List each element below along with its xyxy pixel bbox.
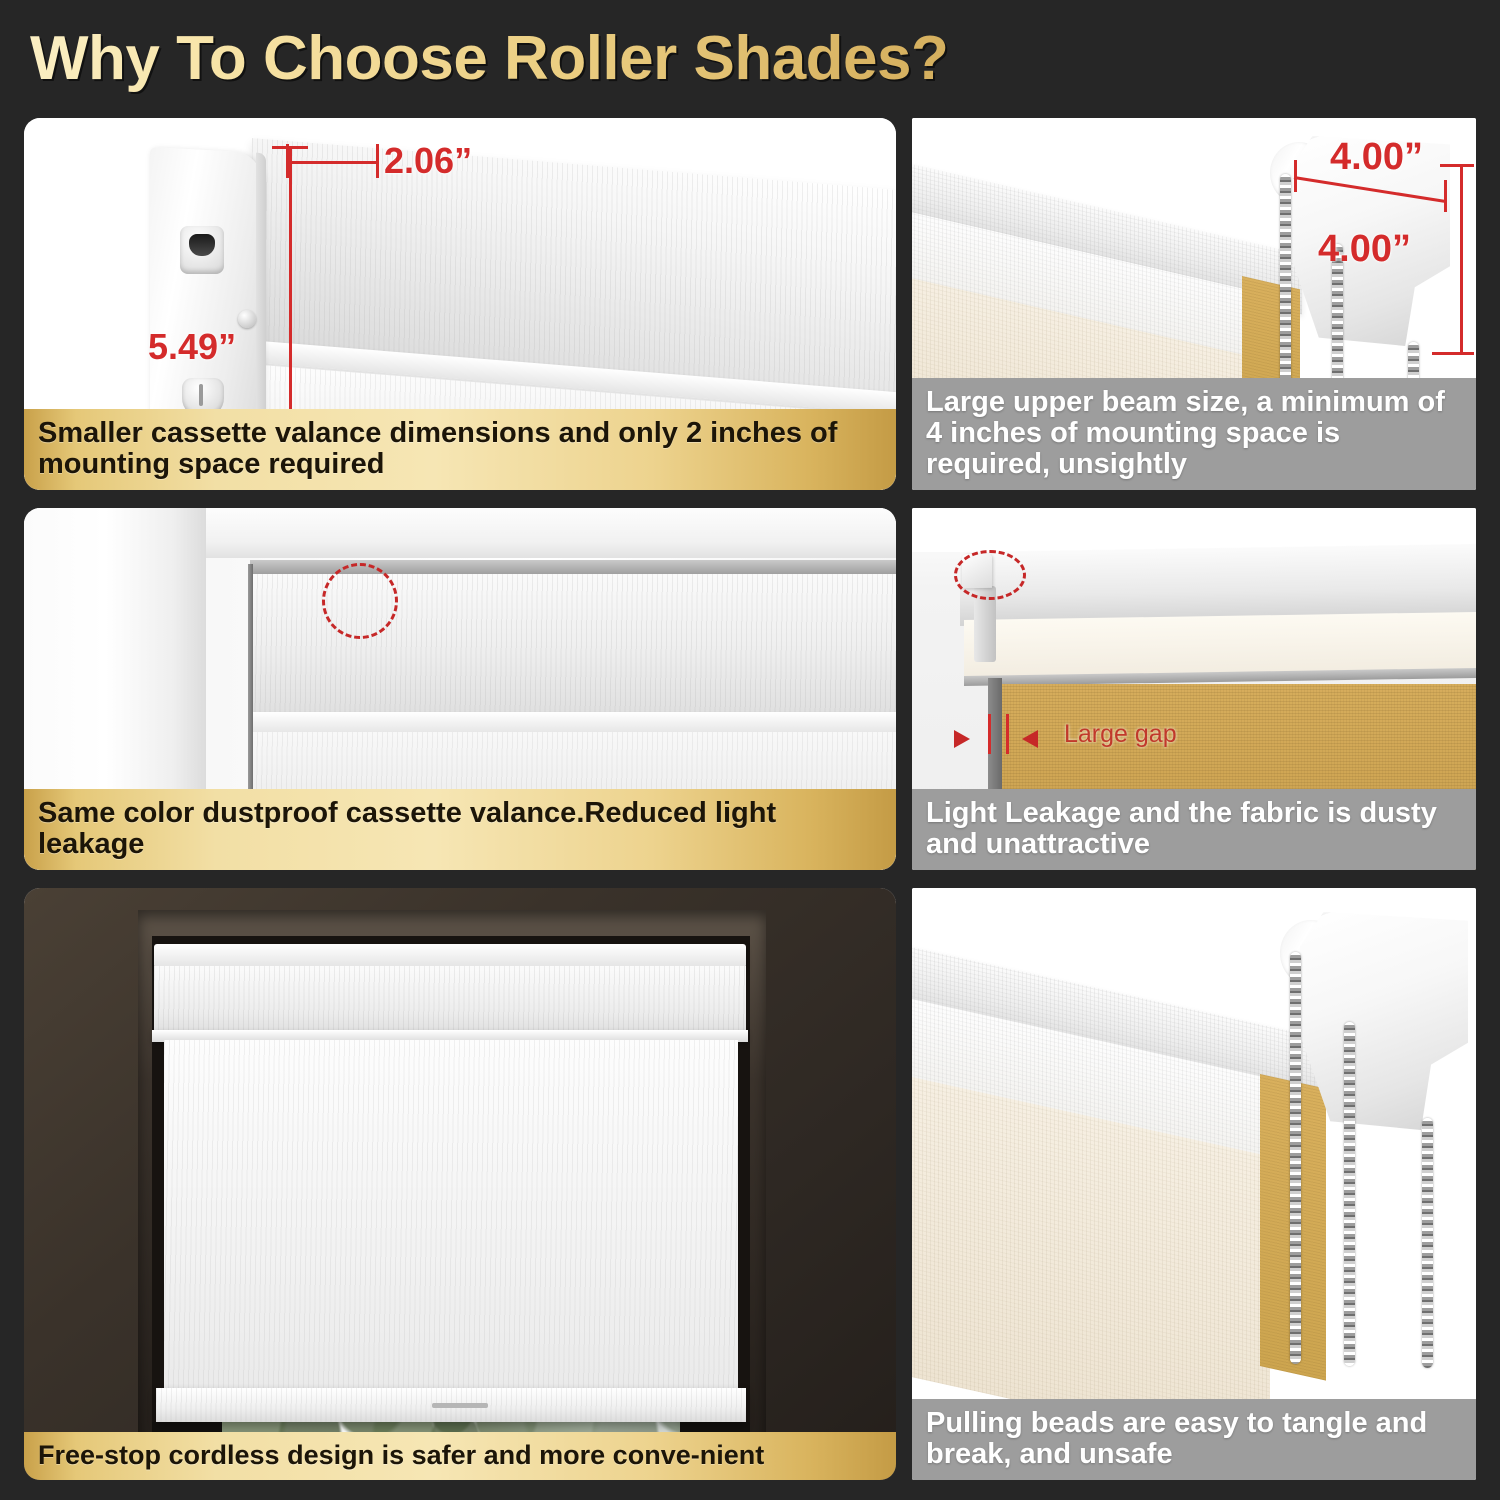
panel-5-caption: Free-stop cordless design is safer and m… [24, 1432, 896, 1480]
highlight-circle-icon [322, 563, 398, 639]
dim-cap-bottom [1432, 352, 1474, 355]
panel-pulling-beads: Pulling beads are easy to tangle and bre… [912, 888, 1476, 1480]
mounting-bracket [1300, 912, 1468, 1130]
panel-2-caption: Large upper beam size, a minimum of 4 in… [912, 378, 1476, 490]
dim-cap-top [1440, 164, 1474, 167]
panel-light-leakage: Large gap Light Leakage and the fabric i… [912, 508, 1476, 870]
panel-4-caption: Light Leakage and the fabric is dusty an… [912, 789, 1476, 870]
head-rail [154, 944, 746, 968]
gap-arrow-left-icon [954, 730, 970, 748]
dimension-height-label: 5.49” [148, 326, 236, 368]
dim-tick-w-right [1444, 180, 1447, 212]
dimension-width-label: 2.06” [384, 140, 472, 182]
panel-free-stop-cordless: Free-stop cordless design is safer and m… [24, 888, 896, 1480]
bead-chain-mid [1344, 1022, 1355, 1366]
dim-cap-top [272, 146, 308, 149]
gap-label: Large gap [1064, 720, 1177, 749]
panel-1-caption: Smaller cassette valance dimensions and … [24, 409, 896, 490]
panel-same-color-valance: smaller gap Same color dustproof cassett… [24, 508, 896, 870]
mechanism-knob [180, 226, 224, 274]
product-photo-room-scene [24, 888, 896, 1480]
gap-mark-right [1006, 714, 1009, 754]
gap-arrow-right-icon [1022, 730, 1038, 748]
panel-large-upper-beam: 4.00” 4.00” Large upper beam size, a min… [912, 118, 1476, 490]
dim-line-width [286, 161, 378, 164]
dim-tick-w-left [1294, 160, 1297, 192]
window-frame-top [196, 508, 896, 558]
panel-3-caption: Same color dustproof cassette valance.Re… [24, 789, 896, 870]
highlight-circle-icon [954, 550, 1026, 600]
panel-smaller-cassette: 2.06” 5.49” Smaller cassette valance dim… [24, 118, 896, 490]
shade-fabric [164, 1040, 738, 1392]
gap-mark-left [988, 714, 991, 754]
panel-6-caption: Pulling beads are easy to tangle and bre… [912, 1399, 1476, 1480]
dim-line-height [1460, 164, 1463, 354]
page-title: Why To Choose Roller Shades? [30, 20, 1130, 98]
product-photo-bead-chain [912, 888, 1476, 1480]
dimension-width-label: 4.00” [1330, 136, 1423, 179]
bead-chain-right [1422, 1118, 1433, 1368]
dimension-height-label: 4.00” [1318, 228, 1411, 271]
bottom-rail-grip [432, 1403, 488, 1408]
bead-chain-left [1290, 952, 1301, 1364]
screw-upper [238, 310, 256, 328]
valance-ridge [252, 712, 896, 732]
cassette-valance [154, 966, 746, 1034]
